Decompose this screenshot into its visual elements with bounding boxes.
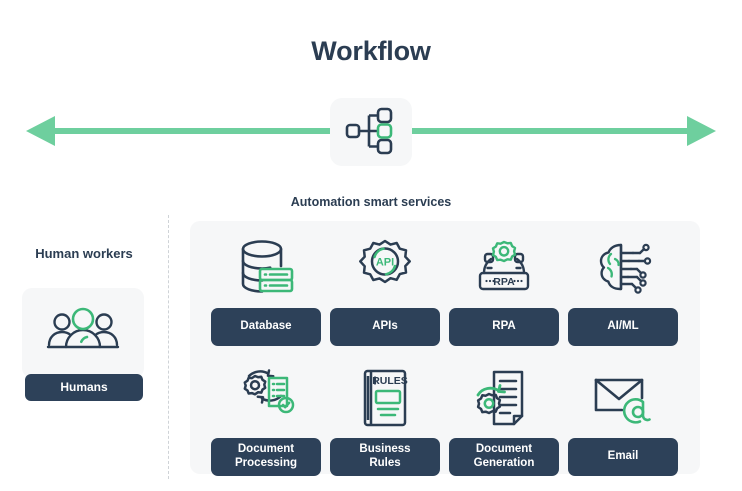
section-divider [168, 215, 169, 479]
service-label-business-rules[interactable]: BusinessRules [330, 438, 440, 476]
service-card-business-rules[interactable]: RULES BusinessRules [330, 362, 440, 476]
service-label-email[interactable]: Email [568, 438, 678, 476]
services-grid: Database API APIs [190, 221, 700, 491]
rules-icon-text: RULES [372, 375, 408, 387]
service-label-rpa[interactable]: RPA [449, 308, 559, 346]
page-title: Workflow [0, 36, 742, 67]
service-label-document-generation[interactable]: DocumentGeneration [449, 438, 559, 476]
people-group-icon [46, 304, 120, 354]
document-processing-icon [211, 362, 321, 438]
document-generation-icon [449, 362, 559, 438]
human-workers-card [22, 288, 144, 378]
rpa-icon-text: RPA [493, 276, 515, 288]
service-card-email[interactable]: Email [568, 362, 678, 476]
service-label-document-processing[interactable]: DocumentProcessing [211, 438, 321, 476]
database-icon [211, 232, 321, 308]
rules-book-icon: RULES [330, 362, 440, 438]
workflow-nodes-icon [345, 107, 397, 157]
service-card-document-processing[interactable]: DocumentProcessing [211, 362, 321, 476]
service-label-aiml[interactable]: AI/ML [568, 308, 678, 346]
service-card-rpa[interactable]: RPA RPA [449, 232, 559, 346]
service-card-apis[interactable]: API APIs [330, 232, 440, 346]
service-card-database[interactable]: Database [211, 232, 321, 346]
service-card-document-generation[interactable]: DocumentGeneration [449, 362, 559, 476]
brain-circuit-icon [568, 232, 678, 308]
workflow-node-chip [330, 98, 412, 166]
service-label-apis[interactable]: APIs [330, 308, 440, 346]
service-label-database[interactable]: Database [211, 308, 321, 346]
service-card-aiml[interactable]: AI/ML [568, 232, 678, 346]
human-workers-label: Human workers [0, 246, 168, 261]
robot-rpa-icon: RPA [449, 232, 559, 308]
api-icon-text: API [376, 257, 394, 269]
section-caption: Automation smart services [0, 195, 742, 209]
humans-button[interactable]: Humans [25, 374, 143, 401]
diagram-canvas: Workflow Automation smart services Human… [0, 0, 742, 491]
api-gear-icon: API [330, 232, 440, 308]
email-at-icon [568, 362, 678, 438]
